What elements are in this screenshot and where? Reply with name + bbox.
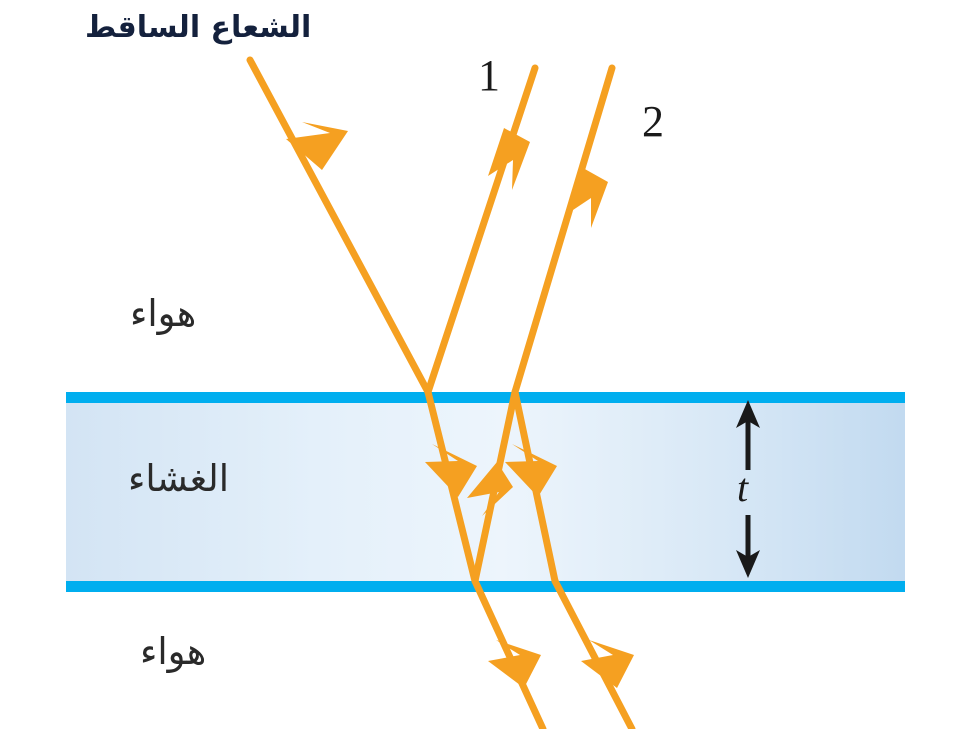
medium-film-label: الغشاء	[128, 457, 229, 500]
film-bottom-boundary	[66, 581, 905, 592]
incident-ray-label: الشعاع الساقط	[85, 10, 311, 45]
film-top-boundary	[66, 392, 905, 403]
incident-ray-arrowhead	[286, 122, 348, 170]
thickness-label: t	[737, 464, 748, 511]
reflected-ray-2-line	[515, 68, 612, 392]
reflected-ray-2-arrowhead	[567, 168, 608, 228]
diagram-canvas	[0, 0, 960, 729]
incident-ray-line	[250, 60, 428, 392]
reflected-ray-1-line	[428, 68, 535, 392]
ray-1-label: 1	[478, 50, 500, 101]
thin-film-interference-diagram: الشعاع الساقط 1 2 هواء الغشاء هواء t	[0, 0, 960, 729]
medium-air-bottom-label: هواء	[140, 630, 206, 673]
transmitted-ray-1-arrowhead	[488, 640, 541, 688]
ray-2-label: 2	[642, 96, 664, 147]
medium-air-top-label: هواء	[130, 292, 196, 335]
